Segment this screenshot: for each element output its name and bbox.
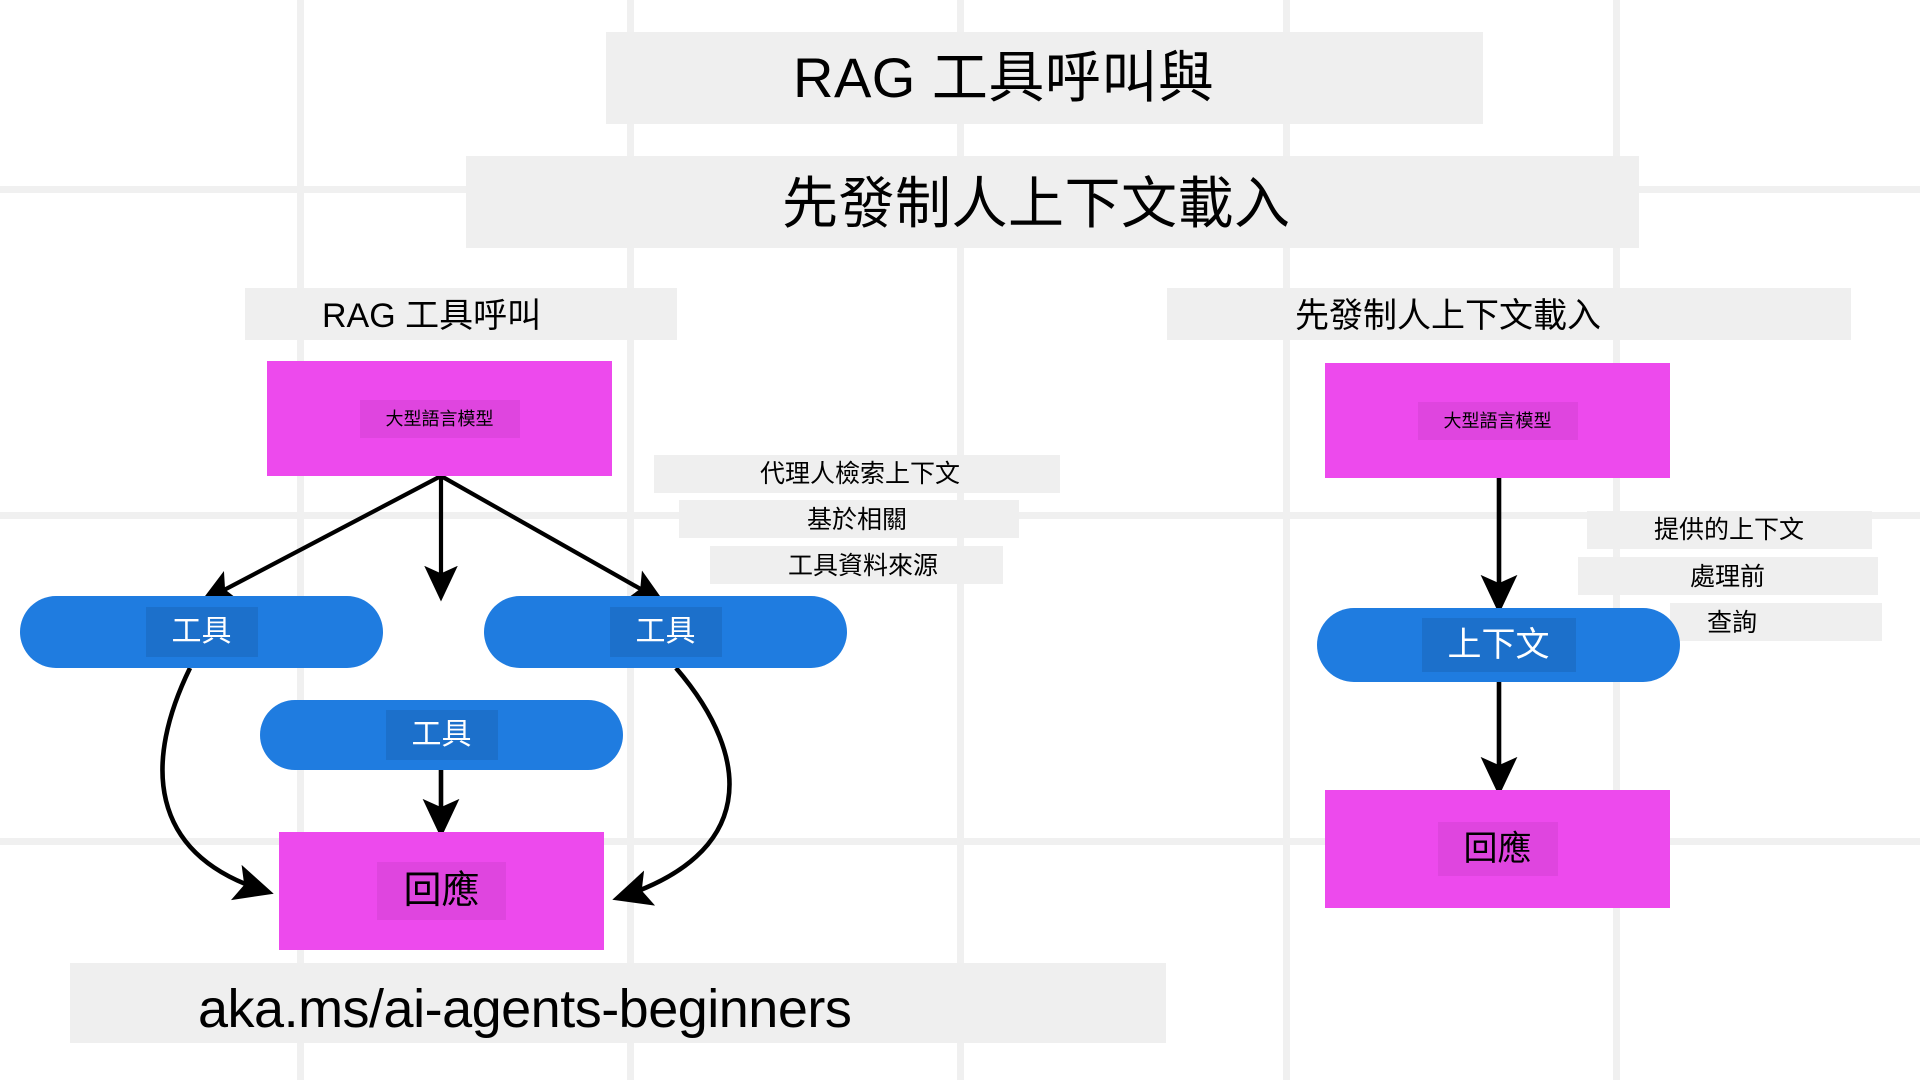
right-response-label: 回應 — [1438, 822, 1558, 876]
left-panel-heading: RAG 工具呼叫 — [322, 299, 541, 333]
footer-url[interactable]: aka.ms/ai-agents-beginners — [198, 982, 851, 1036]
slide-canvas: RAG 工具呼叫與 先發制人上下文載入 RAG 工具呼叫 先發制人上下文載入 大… — [0, 0, 1920, 1080]
left-annotation-2: 基於相關 — [807, 508, 907, 533]
left-tool-node-3[interactable]: 工具 — [260, 700, 623, 770]
right-annotation-1: 提供的上下文 — [1654, 518, 1804, 543]
right-context-label: 上下文 — [1422, 618, 1576, 672]
right-annotation-2: 處理前 — [1690, 565, 1765, 590]
left-llm-label: 大型語言模型 — [360, 400, 520, 438]
right-panel-heading: 先發制人上下文載入 — [1295, 299, 1601, 333]
arrow-tool-right-to-response — [618, 668, 729, 898]
arrow-tool-left-to-response — [162, 668, 268, 892]
left-response-label: 回應 — [377, 862, 505, 920]
page-title-line1: RAG 工具呼叫與 — [793, 50, 1214, 106]
right-context-node[interactable]: 上下文 — [1317, 608, 1680, 682]
left-annotation-3: 工具資料來源 — [788, 554, 938, 579]
right-annotation-3: 查詢 — [1707, 611, 1757, 636]
left-tool-label-2: 工具 — [610, 607, 722, 657]
right-llm-node[interactable]: 大型語言模型 — [1325, 363, 1670, 478]
arrow-llm-to-tool-right — [441, 476, 660, 600]
left-tool-label-3: 工具 — [386, 710, 498, 760]
left-response-node[interactable]: 回應 — [279, 832, 604, 950]
right-response-node[interactable]: 回應 — [1325, 790, 1670, 908]
right-annotation-band-3 — [1670, 603, 1882, 641]
left-llm-node[interactable]: 大型語言模型 — [267, 361, 612, 476]
left-tool-label-1: 工具 — [146, 607, 258, 657]
left-tool-node-1[interactable]: 工具 — [20, 596, 383, 668]
left-annotation-1: 代理人檢索上下文 — [760, 462, 960, 487]
right-llm-label: 大型語言模型 — [1418, 402, 1578, 440]
arrow-llm-to-tool-left — [205, 476, 441, 600]
left-tool-node-2[interactable]: 工具 — [484, 596, 847, 668]
page-title-line2: 先發制人上下文載入 — [782, 176, 1291, 232]
